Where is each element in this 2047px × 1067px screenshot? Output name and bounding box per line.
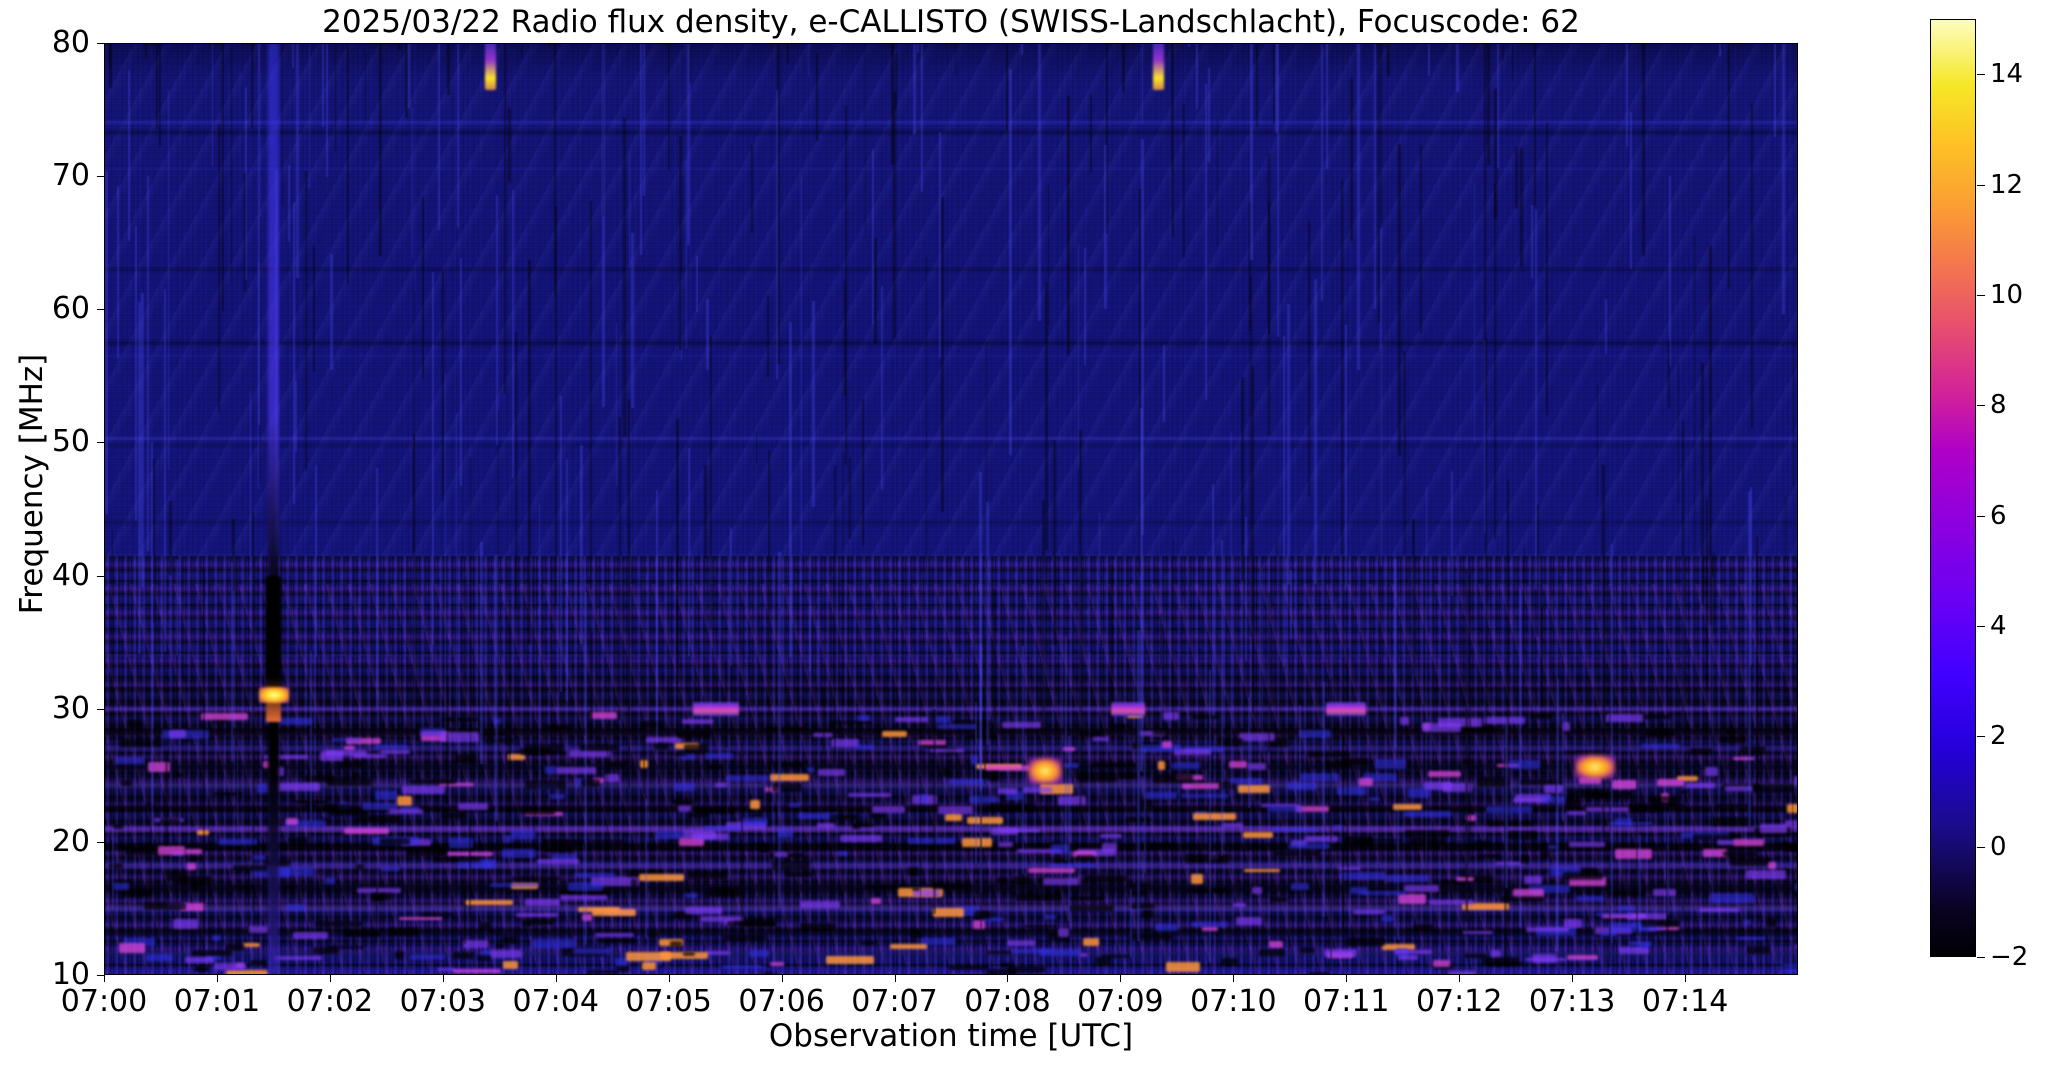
vertical-noise-streak bbox=[296, 43, 299, 278]
rfi-patch bbox=[840, 835, 882, 842]
vertical-noise-streak bbox=[549, 43, 550, 47]
rfi-patch bbox=[516, 913, 558, 916]
vertical-noise-streak bbox=[504, 43, 506, 394]
vertical-noise-streak bbox=[138, 302, 141, 653]
vertical-noise-streak bbox=[980, 791, 982, 944]
rfi-patch bbox=[250, 960, 266, 966]
vertical-noise-streak bbox=[580, 445, 583, 644]
rfi-patch bbox=[166, 871, 188, 881]
rfi-patch bbox=[1299, 730, 1332, 738]
rfi-patch bbox=[1360, 891, 1406, 894]
rfi-patch bbox=[274, 956, 322, 961]
rfi-patch bbox=[1307, 752, 1352, 757]
rfi-patch bbox=[672, 799, 694, 804]
rfi-patch bbox=[807, 767, 814, 772]
vertical-noise-streak bbox=[326, 43, 328, 177]
rfi-patch bbox=[1221, 958, 1237, 966]
colorbar-gradient bbox=[1930, 19, 1976, 957]
rfi-patch bbox=[1410, 837, 1445, 846]
vertical-noise-streak bbox=[1183, 104, 1185, 257]
rfi-patch bbox=[1508, 760, 1540, 770]
vertical-noise-streak bbox=[616, 323, 617, 486]
rfi-patch bbox=[1596, 913, 1633, 916]
rfi-horizontal-line bbox=[104, 687, 1798, 690]
spectrogram-image[interactable] bbox=[104, 43, 1798, 975]
rfi-patch bbox=[989, 803, 1035, 812]
vertical-noise-streak bbox=[251, 44, 253, 127]
vertical-noise-streak bbox=[1712, 577, 1713, 927]
x-tick-label: 07:03 bbox=[400, 986, 486, 1018]
vertical-noise-streak bbox=[159, 43, 161, 146]
broadband-vertical-burst bbox=[268, 43, 279, 975]
vertical-noise-streak bbox=[539, 504, 540, 882]
rfi-patch bbox=[1715, 804, 1751, 808]
rfi-patch bbox=[1155, 924, 1179, 931]
vertical-noise-streak bbox=[398, 43, 401, 50]
rfi-patch bbox=[410, 955, 444, 959]
rfi-patch bbox=[1508, 831, 1537, 840]
vertical-noise-streak bbox=[128, 70, 130, 241]
rfi-patch bbox=[433, 857, 480, 862]
rfi-patch bbox=[322, 804, 349, 812]
rfi-patch bbox=[587, 970, 618, 974]
rfi-patch bbox=[1641, 744, 1679, 748]
rfi-patch bbox=[1043, 878, 1079, 885]
vertical-noise-streak bbox=[628, 400, 630, 787]
rfi-patch bbox=[687, 871, 727, 880]
vertical-noise-streak bbox=[288, 165, 290, 241]
rfi-patch bbox=[395, 951, 403, 959]
vertical-noise-streak bbox=[1428, 43, 1430, 76]
rfi-patch bbox=[120, 739, 162, 748]
vertical-noise-streak bbox=[809, 606, 811, 671]
vertical-noise-streak bbox=[676, 419, 679, 685]
vertical-noise-streak bbox=[222, 43, 224, 311]
rfi-patch bbox=[1080, 731, 1101, 737]
rfi-patch bbox=[121, 889, 151, 898]
rfi-patch bbox=[705, 951, 730, 955]
rfi-patch bbox=[1680, 790, 1688, 795]
vertical-noise-streak bbox=[926, 257, 927, 585]
rfi-patch bbox=[1386, 875, 1429, 882]
rfi-patch bbox=[709, 887, 740, 897]
bright-cluster bbox=[1028, 758, 1062, 784]
vertical-noise-streak bbox=[687, 43, 690, 245]
vertical-noise-streak bbox=[372, 700, 373, 819]
vertical-noise-streak bbox=[917, 43, 919, 53]
vertical-noise-streak bbox=[656, 490, 658, 742]
rfi-patch bbox=[511, 830, 536, 839]
x-tick-label: 07:01 bbox=[174, 986, 260, 1018]
vertical-noise-streak bbox=[687, 43, 690, 44]
vertical-noise-streak bbox=[1630, 112, 1632, 269]
rfi-patch bbox=[826, 956, 874, 964]
vertical-noise-streak bbox=[512, 190, 514, 478]
x-tick-mark bbox=[1685, 975, 1686, 982]
x-tick-mark bbox=[895, 975, 896, 982]
rfi-patch bbox=[1568, 789, 1605, 797]
vertical-noise-streak bbox=[789, 322, 792, 656]
vertical-noise-streak bbox=[1398, 144, 1401, 456]
rfi-patch bbox=[770, 962, 784, 966]
y-tick-mark bbox=[97, 709, 104, 710]
rfi-patch bbox=[722, 965, 763, 968]
rfi-patch bbox=[1710, 893, 1755, 903]
rfi-patch bbox=[715, 783, 727, 788]
vertical-noise-streak bbox=[1277, 43, 1279, 337]
rfi-patch bbox=[356, 815, 399, 823]
rfi-patch bbox=[1699, 908, 1740, 912]
rfi-patch bbox=[871, 898, 880, 904]
vertical-noise-streak bbox=[1009, 69, 1012, 456]
rfi-patch bbox=[1023, 787, 1052, 792]
rfi-patch bbox=[1565, 798, 1581, 808]
rfi-patch bbox=[121, 780, 132, 786]
rfi-patch bbox=[1413, 924, 1433, 930]
rfi-patch bbox=[1795, 945, 1798, 948]
vertical-noise-streak bbox=[1347, 649, 1349, 886]
vertical-noise-streak bbox=[1639, 835, 1641, 954]
rfi-patch bbox=[545, 766, 556, 774]
vertical-noise-streak bbox=[849, 458, 851, 539]
vertical-noise-streak bbox=[176, 559, 178, 655]
vertical-noise-streak bbox=[1555, 679, 1557, 806]
rfi-horizontal-line bbox=[104, 728, 1798, 735]
rfi-patch bbox=[1163, 712, 1179, 721]
x-tick-label: 07:10 bbox=[1190, 986, 1276, 1018]
vertical-noise-streak bbox=[1597, 385, 1598, 495]
vertical-noise-streak bbox=[1078, 243, 1079, 469]
rfi-patch bbox=[479, 732, 507, 736]
rfi-patch bbox=[187, 857, 201, 860]
rfi-patch bbox=[599, 938, 635, 943]
vertical-noise-streak bbox=[1099, 513, 1100, 644]
vertical-noise-streak bbox=[1106, 43, 1108, 234]
vertical-noise-streak bbox=[335, 43, 336, 152]
vertical-noise-streak bbox=[203, 570, 205, 949]
vertical-noise-streak bbox=[1404, 351, 1406, 554]
vertical-noise-streak bbox=[1546, 123, 1548, 415]
rfi-patch bbox=[1193, 813, 1235, 821]
vertical-noise-streak bbox=[1602, 465, 1605, 836]
vertical-noise-streak bbox=[772, 763, 773, 832]
vertical-noise-streak bbox=[1694, 236, 1695, 553]
rfi-horizontal-line bbox=[104, 168, 1798, 170]
vertical-noise-streak bbox=[710, 336, 712, 630]
rfi-patch bbox=[286, 818, 299, 826]
rfi-patch bbox=[381, 867, 400, 871]
rfi-patch bbox=[1618, 906, 1635, 910]
vertical-noise-streak bbox=[1273, 43, 1275, 124]
vertical-noise-streak bbox=[1456, 43, 1459, 92]
vertical-noise-streak bbox=[1342, 719, 1344, 931]
vertical-noise-streak bbox=[1022, 646, 1024, 873]
rfi-patch bbox=[705, 765, 723, 769]
rfi-patch bbox=[480, 922, 491, 930]
x-tick-mark bbox=[1120, 975, 1121, 982]
rfi-patch bbox=[998, 788, 1017, 794]
rfi-patch bbox=[1233, 903, 1246, 907]
rfi-patch bbox=[1347, 937, 1385, 946]
rfi-patch bbox=[1058, 928, 1070, 937]
rfi-patch bbox=[837, 851, 848, 856]
vertical-noise-streak bbox=[1626, 43, 1628, 147]
vertical-noise-streak bbox=[1188, 43, 1190, 47]
vertical-noise-streak bbox=[1068, 736, 1070, 921]
vertical-noise-streak bbox=[778, 552, 781, 908]
rfi-patch bbox=[649, 933, 657, 938]
rfi-patch bbox=[786, 872, 812, 877]
vertical-noise-streak bbox=[1793, 343, 1794, 487]
vertical-noise-streak bbox=[1562, 713, 1564, 821]
rfi-patch bbox=[684, 744, 709, 753]
vertical-noise-streak bbox=[696, 256, 698, 313]
vertical-noise-streak bbox=[422, 197, 424, 379]
rfi-patch bbox=[288, 837, 308, 844]
rfi-patch bbox=[642, 962, 656, 970]
rfi-patch bbox=[608, 762, 626, 766]
rfi-patch bbox=[1323, 761, 1350, 769]
rfi-patch bbox=[1746, 870, 1786, 879]
rfi-patch bbox=[688, 812, 708, 818]
narrowband-spike-80mhz bbox=[1153, 43, 1164, 90]
rfi-patch bbox=[1567, 811, 1586, 815]
rfi-patch bbox=[1359, 778, 1373, 786]
vertical-noise-streak bbox=[1515, 147, 1518, 209]
vertical-noise-streak bbox=[607, 725, 608, 862]
vertical-noise-streak bbox=[1330, 678, 1332, 971]
rfi-patch bbox=[937, 724, 976, 729]
vertical-noise-streak bbox=[405, 43, 408, 118]
vertical-noise-streak bbox=[438, 43, 440, 230]
rfi-patch bbox=[726, 775, 773, 781]
vertical-noise-streak bbox=[496, 195, 498, 445]
rfi-patch bbox=[933, 908, 965, 917]
rfi-patch bbox=[402, 786, 445, 794]
rfi-patch bbox=[862, 941, 875, 944]
rfi-patch bbox=[1162, 741, 1172, 748]
rfi-patch bbox=[344, 828, 389, 833]
vertical-noise-streak bbox=[1387, 43, 1390, 76]
rfi-patch bbox=[173, 919, 197, 928]
colorbar-tick-mark bbox=[1977, 626, 1985, 627]
vertical-noise-streak bbox=[135, 226, 137, 521]
x-tick-label: 07:14 bbox=[1642, 986, 1728, 1018]
y-tick-label: 20 bbox=[52, 827, 90, 857]
rfi-patch bbox=[1191, 874, 1203, 884]
colorbar-tick-mark bbox=[1977, 957, 1985, 958]
rfi-patch bbox=[1091, 763, 1135, 766]
vertical-noise-streak bbox=[590, 201, 592, 589]
rfi-patch bbox=[682, 719, 713, 724]
rfi-patch bbox=[974, 911, 991, 919]
rfi-patch bbox=[674, 783, 694, 791]
y-tick-label: 50 bbox=[52, 427, 90, 457]
rfi-patch bbox=[595, 933, 633, 937]
vertical-noise-streak bbox=[1276, 540, 1277, 763]
vertical-noise-layer-dark bbox=[104, 43, 1798, 975]
rfi-patch bbox=[1784, 969, 1799, 973]
vertical-noise-streak bbox=[1512, 43, 1513, 81]
rfi-patch bbox=[789, 803, 799, 808]
vertical-noise-streak bbox=[1256, 43, 1258, 127]
vertical-noise-streak bbox=[1394, 559, 1397, 748]
vertical-noise-streak bbox=[1350, 78, 1353, 241]
vertical-noise-streak bbox=[741, 742, 743, 933]
vertical-noise-streak bbox=[1221, 540, 1223, 856]
vertical-noise-streak bbox=[668, 43, 670, 171]
y-tick-mark bbox=[97, 43, 104, 44]
vertical-noise-streak bbox=[480, 542, 483, 764]
rfi-patch bbox=[537, 859, 580, 864]
vertical-noise-streak bbox=[147, 176, 149, 551]
rfi-patch bbox=[1753, 784, 1793, 793]
rfi-horizontal-line bbox=[104, 121, 1798, 124]
rfi-patch bbox=[1077, 772, 1117, 782]
vertical-noise-streak bbox=[986, 502, 989, 744]
vertical-noise-streak bbox=[1751, 103, 1753, 427]
rfi-patch bbox=[1740, 746, 1766, 755]
vertical-noise-streak bbox=[1089, 652, 1090, 830]
rfi-patch bbox=[185, 849, 202, 854]
vertical-noise-streak bbox=[583, 844, 584, 947]
colorbar-tick-label: 8 bbox=[1990, 392, 2007, 418]
vertical-noise-streak bbox=[260, 217, 261, 484]
vertical-noise-streak bbox=[1748, 491, 1751, 827]
colorbar-tick-label: 12 bbox=[1990, 172, 2023, 198]
rfi-patch bbox=[1428, 771, 1461, 776]
rfi-patch bbox=[1526, 927, 1568, 932]
vertical-noise-streak bbox=[1701, 363, 1704, 605]
vertical-noise-streak bbox=[1171, 43, 1174, 237]
broadband-burst-peak bbox=[259, 687, 289, 703]
vertical-noise-streak bbox=[1642, 43, 1645, 256]
rfi-patch bbox=[380, 750, 411, 755]
rfi-patch bbox=[441, 812, 467, 819]
rfi-patch bbox=[772, 783, 802, 791]
rfi-patch bbox=[677, 731, 711, 737]
vertical-noise-streak bbox=[442, 271, 444, 501]
vertical-noise-streak bbox=[776, 90, 778, 379]
vertical-noise-streak bbox=[310, 651, 312, 822]
vertical-noise-streak bbox=[679, 136, 682, 350]
narrowband-spike-80mhz bbox=[485, 43, 496, 90]
colorbar[interactable]: 14121086420−2 bbox=[1930, 19, 1976, 957]
vertical-noise-streak bbox=[812, 301, 815, 507]
rfi-patch bbox=[1049, 864, 1096, 867]
rfi-patch bbox=[397, 796, 412, 806]
x-tick-label: 07:12 bbox=[1416, 986, 1502, 1018]
vertical-noise-streak bbox=[1669, 176, 1671, 366]
vertical-noise-streak bbox=[432, 272, 434, 645]
vertical-noise-streak bbox=[1065, 637, 1067, 861]
vertical-noise-streak bbox=[509, 600, 511, 818]
vertical-noise-streak bbox=[322, 43, 324, 127]
rfi-patch bbox=[1645, 729, 1674, 738]
vertical-noise-streak bbox=[1412, 519, 1415, 674]
vertical-noise-streak bbox=[1381, 43, 1382, 222]
vertical-noise-streak bbox=[1245, 517, 1247, 661]
rfi-patch bbox=[374, 745, 407, 750]
rfi-patch bbox=[1615, 849, 1652, 859]
x-tick-mark bbox=[669, 975, 670, 982]
rfi-patch bbox=[750, 800, 761, 809]
rfi-patch bbox=[997, 877, 1008, 884]
rfi-patch bbox=[1686, 783, 1715, 788]
rfi-patch bbox=[1114, 724, 1130, 729]
colorbar-tick-mark bbox=[1977, 74, 1985, 75]
vertical-noise-streak bbox=[460, 258, 462, 487]
rfi-patch bbox=[1238, 785, 1270, 792]
vertical-noise-streak bbox=[515, 332, 517, 609]
rfi-patch bbox=[455, 754, 477, 762]
rfi-patch bbox=[1520, 855, 1529, 864]
x-axis-label: Observation time [UTC] bbox=[104, 1018, 1798, 1054]
vertical-noise-streak bbox=[843, 453, 844, 698]
rfi-patch bbox=[252, 855, 266, 859]
rfi-patch bbox=[1730, 858, 1772, 865]
rfi-patch bbox=[505, 835, 511, 843]
vertical-noise-streak bbox=[1487, 43, 1490, 165]
colorbar-tick-label: 0 bbox=[1990, 834, 2007, 860]
vertical-noise-streak bbox=[808, 43, 809, 77]
vertical-noise-streak bbox=[1268, 593, 1270, 752]
rfi-patch bbox=[332, 738, 360, 741]
y-axis-label: Frequency [MHz] bbox=[14, 204, 50, 764]
y-tick-mark bbox=[97, 176, 104, 177]
vertical-noise-streak bbox=[231, 562, 233, 762]
rfi-patch bbox=[1541, 850, 1549, 858]
rfi-patch bbox=[1130, 903, 1154, 909]
vertical-noise-streak bbox=[767, 295, 769, 377]
rfi-patch bbox=[192, 950, 233, 956]
vertical-noise-streak bbox=[109, 43, 111, 68]
vertical-noise-streak bbox=[1241, 377, 1244, 581]
rfi-band-30mhz bbox=[1111, 702, 1145, 716]
rfi-patch bbox=[1044, 915, 1056, 918]
vertical-noise-streak bbox=[1357, 43, 1360, 370]
vertical-noise-streak bbox=[920, 683, 921, 942]
rfi-patch bbox=[1569, 842, 1605, 848]
rfi-patch bbox=[969, 796, 998, 804]
rfi-patch bbox=[191, 882, 199, 891]
rfi-patch bbox=[490, 883, 538, 888]
colorbar-tick-label: 14 bbox=[1990, 61, 2023, 87]
vertical-noise-streak bbox=[1323, 682, 1325, 917]
rfi-patch bbox=[1158, 761, 1165, 770]
rfi-patch bbox=[160, 818, 180, 824]
rfi-patch bbox=[857, 715, 870, 721]
rfi-patch bbox=[465, 900, 513, 906]
rfi-patch bbox=[770, 774, 809, 781]
colorbar-tick-mark bbox=[1977, 736, 1985, 737]
y-tick-label: 30 bbox=[52, 694, 90, 724]
vertical-noise-streak bbox=[1142, 43, 1143, 125]
rfi-patch bbox=[115, 757, 143, 764]
rfi-patch bbox=[496, 944, 505, 948]
rfi-patch bbox=[704, 826, 743, 830]
colorbar-tick-label: 6 bbox=[1990, 503, 2007, 529]
vertical-noise-streak bbox=[688, 448, 690, 656]
vertical-noise-streak bbox=[984, 635, 986, 784]
rfi-patch bbox=[1433, 960, 1450, 967]
vertical-noise-streak bbox=[534, 741, 535, 860]
y-tick-mark bbox=[97, 309, 104, 310]
rfi-patch bbox=[1619, 947, 1649, 954]
vertical-noise-streak bbox=[730, 528, 732, 666]
rfi-patch bbox=[410, 779, 456, 784]
y-tick-mark bbox=[97, 576, 104, 577]
